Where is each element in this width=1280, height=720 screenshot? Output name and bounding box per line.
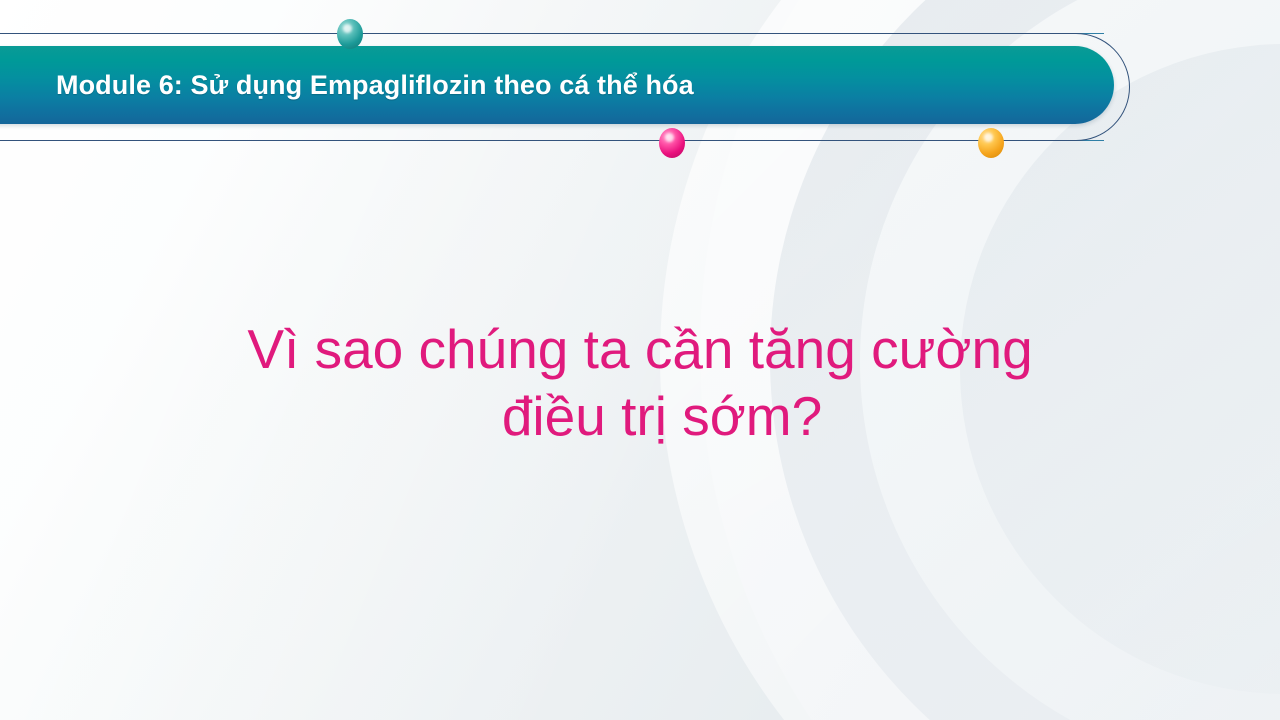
slide-body-text: Vì sao chúng ta cần tăng cường điều trị …	[0, 316, 1280, 450]
orange-sphere-icon	[978, 128, 1004, 158]
pink-sphere-icon	[659, 128, 685, 158]
slide-canvas: Module 6: Sử dụng Empagliflozin theo cá …	[0, 0, 1280, 720]
body-text-line-2: điều trị sớm?	[164, 383, 1160, 450]
teal-sphere-icon	[337, 19, 363, 49]
slide-header: Module 6: Sử dụng Empagliflozin theo cá …	[0, 0, 1280, 170]
page-title: Module 6: Sử dụng Empagliflozin theo cá …	[56, 70, 694, 101]
body-text-line-1: Vì sao chúng ta cần tăng cường	[120, 316, 1160, 383]
header-banner: Module 6: Sử dụng Empagliflozin theo cá …	[0, 46, 1114, 124]
